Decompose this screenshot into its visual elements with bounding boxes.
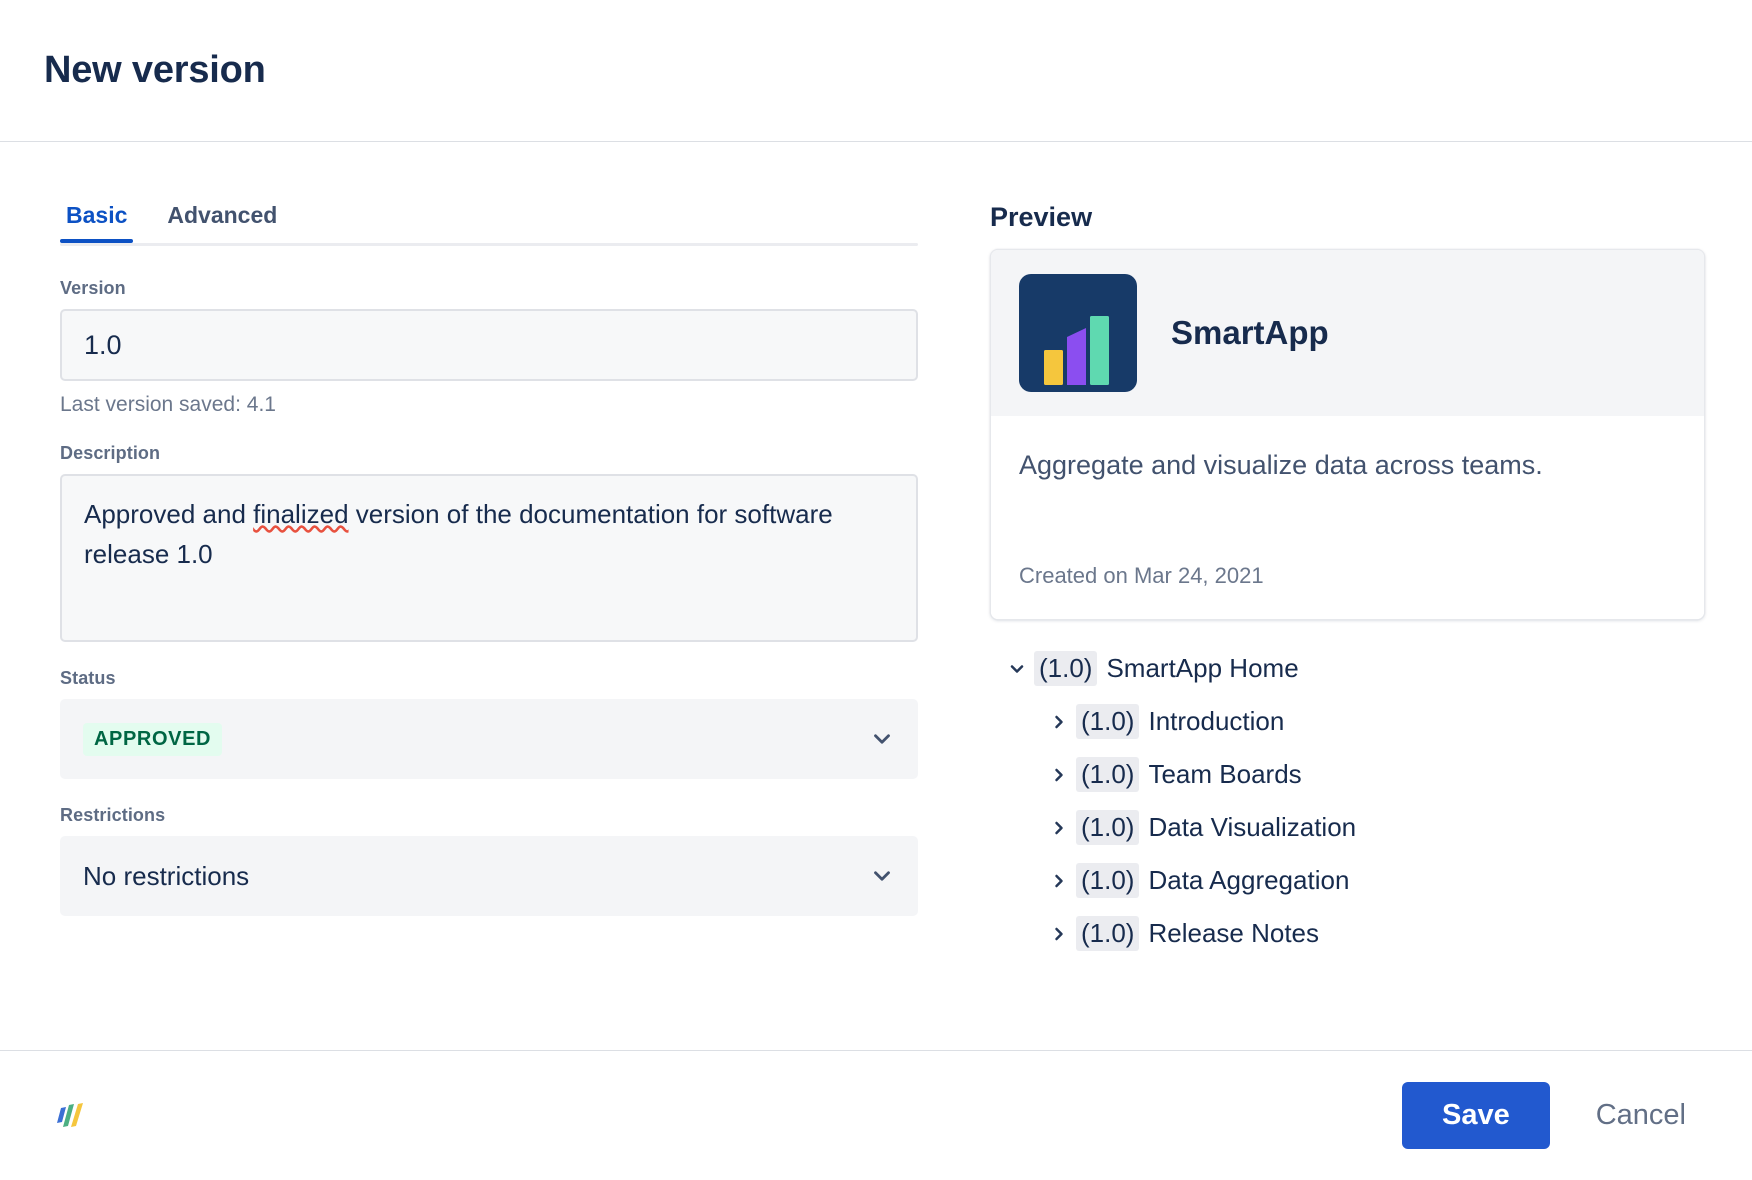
chevron-down-icon bbox=[869, 863, 895, 889]
tree-item-label: Introduction bbox=[1148, 706, 1284, 737]
cancel-button[interactable]: Cancel bbox=[1574, 1082, 1708, 1149]
version-input[interactable]: 1.0 bbox=[60, 309, 918, 381]
status-field-group: Status APPROVED bbox=[60, 668, 990, 779]
tree-row[interactable]: (1.0) Data Aggregation bbox=[1000, 854, 1712, 907]
version-field-group: Version 1.0 Last version saved: 4.1 bbox=[60, 278, 990, 417]
tree-version-chip: (1.0) bbox=[1076, 810, 1139, 845]
tree-row[interactable]: (1.0) Release Notes bbox=[1000, 907, 1712, 960]
chevron-right-icon[interactable] bbox=[1042, 818, 1076, 838]
tab-underline-track bbox=[60, 243, 918, 246]
scroll-brand-logo-icon bbox=[50, 1096, 90, 1136]
chevron-right-icon[interactable] bbox=[1042, 924, 1076, 944]
tab-basic[interactable]: Basic bbox=[60, 202, 133, 243]
restrictions-label: Restrictions bbox=[60, 805, 990, 826]
description-textarea[interactable]: Approved and finalized version of the do… bbox=[60, 474, 918, 642]
chevron-right-icon[interactable] bbox=[1042, 871, 1076, 891]
tab-basic-label: Basic bbox=[66, 202, 127, 228]
tree-row[interactable]: (1.0) SmartApp Home bbox=[1000, 642, 1712, 695]
description-field-group: Description Approved and finalized versi… bbox=[60, 443, 990, 642]
tree-version-chip: (1.0) bbox=[1076, 704, 1139, 739]
chevron-right-icon[interactable] bbox=[1042, 765, 1076, 785]
tree-version-chip: (1.0) bbox=[1076, 757, 1139, 792]
restrictions-select-value: No restrictions bbox=[83, 861, 249, 892]
preview-app-description: Aggregate and visualize data across team… bbox=[1019, 446, 1579, 485]
tree-item-label: Data Aggregation bbox=[1148, 865, 1349, 896]
tree-version-chip: (1.0) bbox=[1034, 651, 1097, 686]
tree-version-chip: (1.0) bbox=[1076, 863, 1139, 898]
tree-row[interactable]: (1.0) Data Visualization bbox=[1000, 801, 1712, 854]
preview-column: Preview SmartApp Aggregate and visualize… bbox=[990, 142, 1752, 1050]
status-badge: APPROVED bbox=[83, 723, 222, 756]
page-title: New version bbox=[44, 49, 266, 92]
last-version-saved-text: Last version saved: 4.1 bbox=[60, 393, 990, 417]
preview-card-body: Aggregate and visualize data across team… bbox=[991, 416, 1704, 485]
tree-version-chip: (1.0) bbox=[1076, 916, 1139, 951]
tab-bar: Basic Advanced bbox=[60, 202, 990, 243]
version-label: Version bbox=[60, 278, 990, 299]
chevron-down-icon[interactable] bbox=[1000, 659, 1034, 679]
chevron-down-icon bbox=[869, 726, 895, 752]
restrictions-field-group: Restrictions No restrictions bbox=[60, 805, 990, 916]
chevron-right-icon[interactable] bbox=[1042, 712, 1076, 732]
preview-heading: Preview bbox=[990, 202, 1712, 233]
version-input-value: 1.0 bbox=[84, 330, 122, 361]
bar-chart-logo-icon bbox=[1019, 274, 1137, 392]
tree-item-label: SmartApp Home bbox=[1106, 653, 1298, 684]
save-button[interactable]: Save bbox=[1402, 1082, 1550, 1149]
preview-app-name: SmartApp bbox=[1171, 314, 1329, 352]
page-tree: (1.0) SmartApp Home (1.0) Introduction (… bbox=[990, 642, 1712, 960]
new-version-dialog: New version Basic Advanced Version 1.0 L… bbox=[0, 0, 1752, 1180]
dialog-header: New version bbox=[0, 0, 1752, 142]
description-text-misspelled: finalized bbox=[253, 499, 348, 529]
tree-item-label: Team Boards bbox=[1148, 759, 1301, 790]
status-select[interactable]: APPROVED bbox=[60, 699, 918, 779]
description-text-part1: Approved and bbox=[84, 499, 253, 529]
footer-actions: Save Cancel bbox=[1402, 1082, 1708, 1149]
preview-created-date: Created on Mar 24, 2021 bbox=[991, 563, 1704, 619]
preview-card-header: SmartApp bbox=[991, 250, 1704, 416]
form-column: Basic Advanced Version 1.0 Last version … bbox=[0, 142, 990, 1050]
tree-row[interactable]: (1.0) Introduction bbox=[1000, 695, 1712, 748]
tree-item-label: Release Notes bbox=[1148, 918, 1319, 949]
description-label: Description bbox=[60, 443, 990, 464]
tree-item-label: Data Visualization bbox=[1148, 812, 1356, 843]
dialog-footer: Save Cancel bbox=[0, 1050, 1752, 1180]
restrictions-select[interactable]: No restrictions bbox=[60, 836, 918, 916]
app-preview-card: SmartApp Aggregate and visualize data ac… bbox=[990, 249, 1705, 620]
tab-advanced[interactable]: Advanced bbox=[161, 202, 283, 243]
tree-row[interactable]: (1.0) Team Boards bbox=[1000, 748, 1712, 801]
status-label: Status bbox=[60, 668, 990, 689]
dialog-body: Basic Advanced Version 1.0 Last version … bbox=[0, 142, 1752, 1050]
tab-advanced-label: Advanced bbox=[167, 202, 277, 228]
